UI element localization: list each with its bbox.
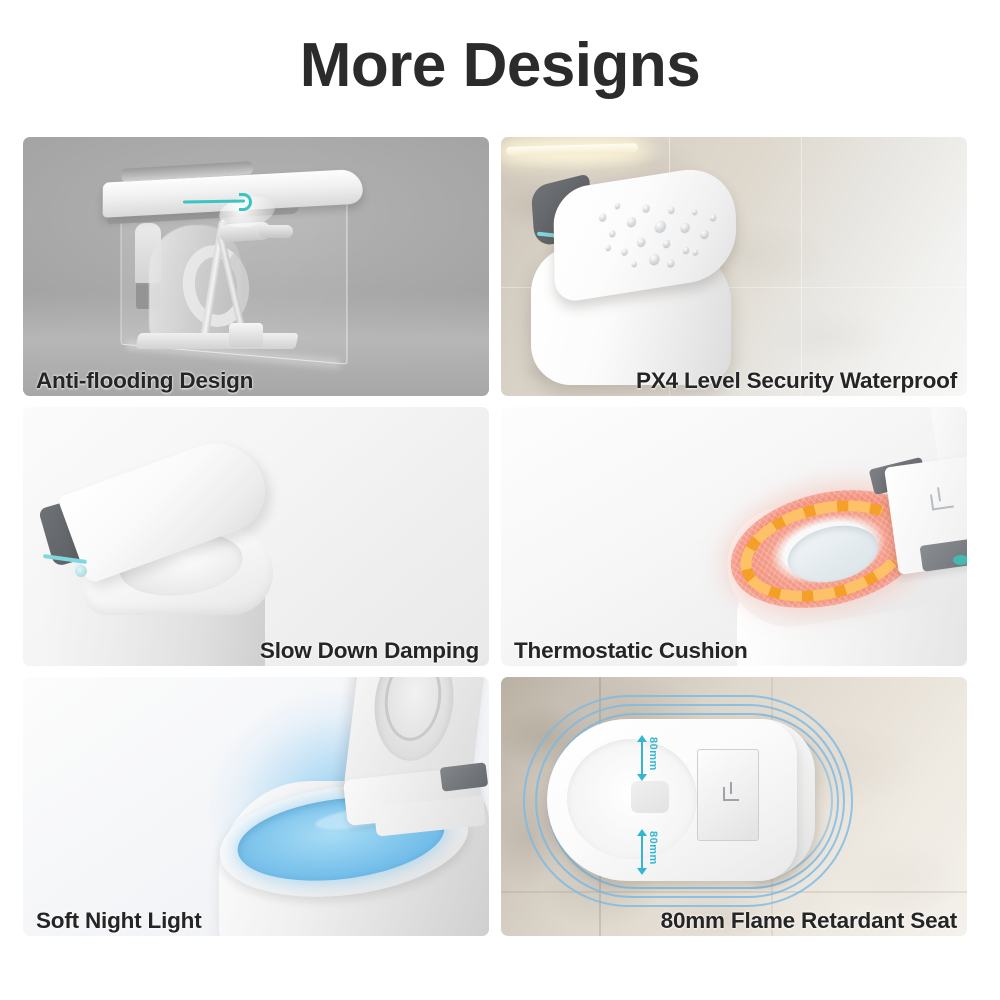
- flame-retardant-seat-illustration: 80mm 80mm: [501, 677, 967, 936]
- dimension-label: 80mm: [647, 831, 659, 865]
- valve-connector: [259, 225, 293, 238]
- pump-unit: [229, 323, 263, 347]
- feature-panel-px4-waterproof[interactable]: PX4 Level Security Waterproof: [501, 137, 967, 396]
- page-title: More Designs: [0, 33, 1000, 98]
- feature-panel-grid: Anti-flooding Design: [23, 137, 978, 937]
- panel-caption: Thermostatic Cushion: [514, 638, 748, 664]
- panel-caption: PX4 Level Security Waterproof: [636, 368, 957, 394]
- damper-hinge-pin: [75, 565, 87, 577]
- product-feature-board: More Designs: [0, 0, 1000, 1000]
- teal-indicator-icon: [953, 555, 967, 565]
- brand-logo-icon: [930, 492, 954, 511]
- panel-caption: Slow Down Damping: [260, 638, 479, 664]
- feature-panel-slow-down-damping[interactable]: Slow Down Damping: [23, 407, 489, 666]
- seat-tab: [631, 781, 669, 813]
- tile-seam: [801, 137, 802, 396]
- feature-panel-thermostatic-cushion[interactable]: Thermostatic Cushion: [501, 407, 967, 666]
- soft-night-light-illustration: [23, 677, 489, 936]
- brand-logo-icon: [723, 787, 739, 801]
- feature-panel-anti-flooding[interactable]: Anti-flooding Design: [23, 137, 489, 396]
- double-arrow-icon: [641, 741, 643, 775]
- toilet-base: [135, 333, 298, 349]
- dimension-label: 80mm: [647, 737, 659, 771]
- anti-flooding-illustration: [23, 137, 489, 396]
- hinge-cover: [440, 762, 489, 791]
- panel-caption: 80mm Flame Retardant Seat: [661, 908, 957, 934]
- double-arrow-icon: [641, 835, 643, 869]
- feature-panel-flame-retardant-seat[interactable]: 80mm 80mm 80mm Flame Retardant Seat: [501, 677, 967, 936]
- slow-down-damping-illustration: [23, 407, 489, 666]
- thermostatic-cushion-illustration: [501, 407, 967, 666]
- panel-caption: Anti-flooding Design: [36, 368, 253, 394]
- panel-caption: Soft Night Light: [36, 908, 202, 934]
- feature-panel-soft-night-light[interactable]: Soft Night Light: [23, 677, 489, 936]
- px4-waterproof-illustration: [501, 137, 967, 396]
